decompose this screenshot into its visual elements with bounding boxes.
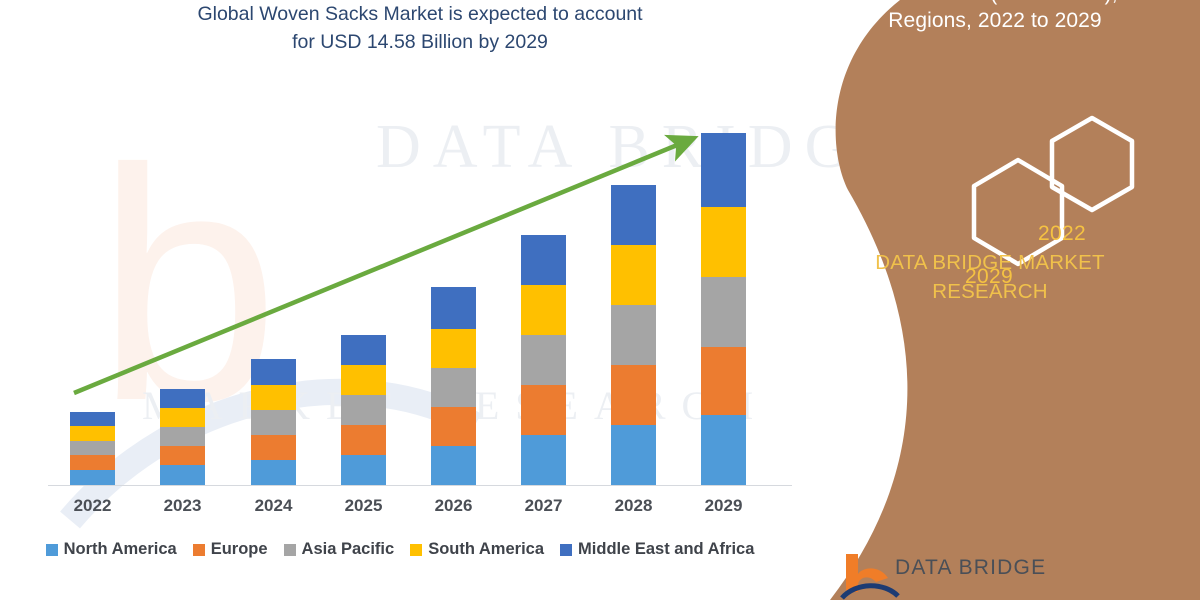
legend-item-3[interactable]: South America xyxy=(410,540,544,559)
bar-segment xyxy=(701,133,746,207)
bar-segment xyxy=(341,455,386,485)
bar-segment xyxy=(160,427,205,446)
legend-swatch-icon xyxy=(410,544,422,556)
bar-2029 xyxy=(701,133,746,485)
panel-heading-line-1: Market Size (USD Billion), xyxy=(810,0,1180,7)
bar-segment xyxy=(701,347,746,415)
bar-2028 xyxy=(611,185,656,485)
bar-segment xyxy=(701,207,746,277)
legend-label: Europe xyxy=(211,540,268,559)
chart-legend: North AmericaEuropeAsia PacificSouth Ame… xyxy=(0,540,800,559)
right-brand-panel: Market Size (USD Billion), Regions, 2022… xyxy=(780,0,1200,600)
data-bridge-logo-icon xyxy=(840,552,900,600)
footer-logo-text: DATA BRIDGE xyxy=(895,556,1046,580)
legend-swatch-icon xyxy=(284,544,296,556)
bar-segment xyxy=(251,359,296,385)
panel-heading-line-2: Regions, 2022 to 2029 xyxy=(810,7,1180,34)
hexagon-2022-label: 2022 xyxy=(1038,222,1086,246)
bar-segment xyxy=(160,389,205,408)
bar-segment xyxy=(611,185,656,245)
bar-segment xyxy=(521,435,566,485)
x-axis-label-2029: 2029 xyxy=(679,496,769,516)
bar-segment xyxy=(70,426,115,441)
bar-segment xyxy=(251,460,296,485)
legend-item-4[interactable]: Middle East and Africa xyxy=(560,540,754,559)
legend-swatch-icon xyxy=(46,544,58,556)
bar-segment xyxy=(521,335,566,385)
bar-segment xyxy=(251,385,296,410)
x-axis-label-2025: 2025 xyxy=(319,496,409,516)
infographic-root: b DATA BRIDGE MARKET RESEARCH Global Wov… xyxy=(0,0,1200,600)
legend-item-1[interactable]: Europe xyxy=(193,540,268,559)
bar-segment xyxy=(160,408,205,427)
legend-swatch-icon xyxy=(560,544,572,556)
brand-name-line-2: RESEARCH xyxy=(932,280,1048,303)
bar-segment xyxy=(251,410,296,435)
bar-2023 xyxy=(160,389,205,485)
bar-segment xyxy=(160,465,205,485)
bar-2024 xyxy=(251,359,296,485)
panel-heading: Market Size (USD Billion), Regions, 2022… xyxy=(810,0,1180,34)
bar-2025 xyxy=(341,335,386,485)
bar-segment xyxy=(611,305,656,365)
legend-item-0[interactable]: North America xyxy=(46,540,177,559)
bar-segment xyxy=(521,385,566,435)
bar-2022 xyxy=(70,412,115,485)
bar-segment xyxy=(70,441,115,455)
bar-segment xyxy=(431,287,476,329)
x-axis-label-2022: 2022 xyxy=(48,496,138,516)
bar-segment xyxy=(701,415,746,485)
bar-segment xyxy=(431,329,476,368)
bar-segment xyxy=(431,407,476,446)
bar-segment xyxy=(341,395,386,425)
legend-label: South America xyxy=(428,540,544,559)
bar-segment xyxy=(70,455,115,470)
stacked-bar-plot: 20222023202420252026202720282029 xyxy=(0,0,840,600)
bar-segment xyxy=(701,277,746,347)
bar-segment xyxy=(160,446,205,465)
bar-segment xyxy=(521,235,566,285)
x-axis-label-2026: 2026 xyxy=(409,496,499,516)
bar-segment xyxy=(341,335,386,365)
hexagon-group: 2022 2029 xyxy=(870,98,1170,238)
bar-segment xyxy=(431,368,476,407)
bar-segment xyxy=(70,412,115,426)
x-axis-label-2024: 2024 xyxy=(229,496,319,516)
bar-segment xyxy=(431,446,476,485)
x-axis-line xyxy=(48,485,792,486)
bar-segment xyxy=(611,245,656,305)
x-axis-label-2027: 2027 xyxy=(499,496,589,516)
legend-label: Middle East and Africa xyxy=(578,540,754,559)
legend-label: Asia Pacific xyxy=(302,540,395,559)
bar-segment xyxy=(70,470,115,485)
legend-label: North America xyxy=(64,540,177,559)
bar-segment xyxy=(251,435,296,460)
x-axis-label-2028: 2028 xyxy=(589,496,679,516)
bar-2027 xyxy=(521,235,566,485)
x-axis-label-2023: 2023 xyxy=(138,496,228,516)
legend-item-2[interactable]: Asia Pacific xyxy=(284,540,395,559)
bar-2026 xyxy=(431,287,476,485)
bar-segment xyxy=(521,285,566,335)
brand-name: DATA BRIDGE MARKET RESEARCH xyxy=(795,248,1185,306)
bar-segment xyxy=(611,365,656,425)
bar-segment xyxy=(611,425,656,485)
footer-logo: DATA BRIDGE xyxy=(840,552,1170,600)
chart-area: b DATA BRIDGE MARKET RESEARCH Global Wov… xyxy=(0,0,840,600)
bar-segment xyxy=(341,425,386,455)
bar-segment xyxy=(341,365,386,395)
panel-content: Market Size (USD Billion), Regions, 2022… xyxy=(780,0,1200,600)
brand-name-line-1: DATA BRIDGE MARKET xyxy=(875,251,1105,274)
legend-swatch-icon xyxy=(193,544,205,556)
